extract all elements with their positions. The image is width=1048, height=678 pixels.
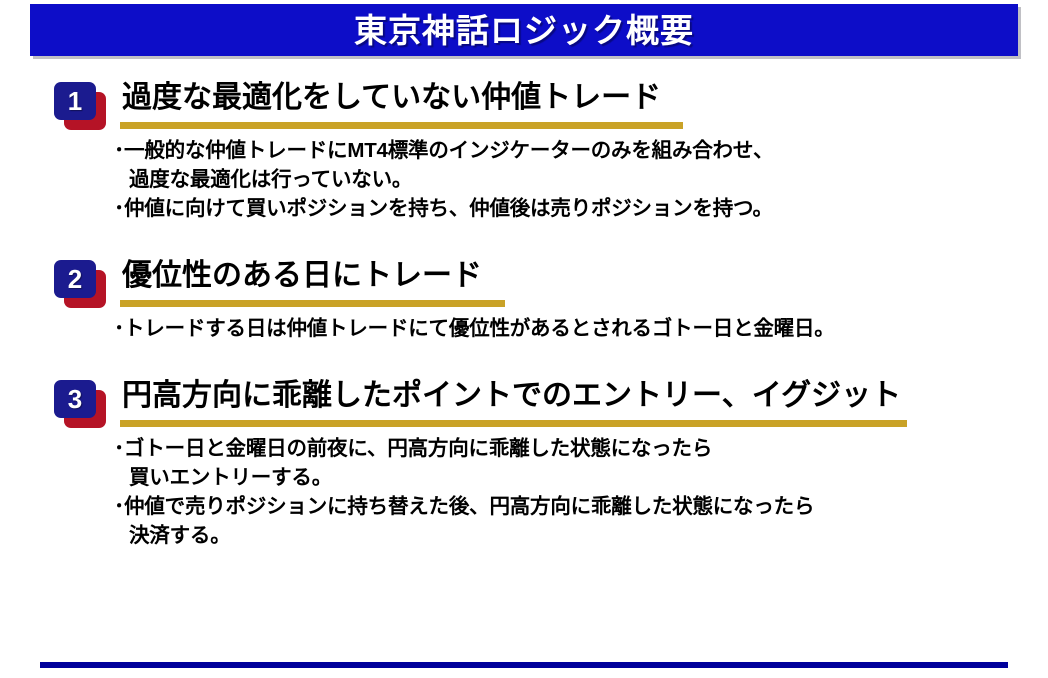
- section-2-header: 2 優位性のある日にトレード: [0, 258, 1048, 310]
- bullet-line: ･トレードする日は仲値トレードにて優位性があるとされるゴトー日と金曜日。: [114, 314, 1014, 343]
- bullet-line: 決済する。: [114, 521, 1014, 550]
- section-3-number-badge: 3: [52, 380, 108, 428]
- section-3-bullets: ･ゴトー日と金曜日の前夜に、円高方向に乖離した状態になったら 買いエントリーする…: [114, 434, 1014, 550]
- badge-main-shape: 2: [54, 260, 96, 298]
- section-2: 2 優位性のある日にトレード ･トレードする日は仲値トレードにて優位性があるとさ…: [0, 258, 1048, 310]
- badge-main-shape: 3: [54, 380, 96, 418]
- bullet-line: 買いエントリーする。: [114, 463, 1014, 492]
- page-title: 東京神話ロジック概要: [354, 14, 694, 47]
- bullet-line: ･仲値に向けて買いポジションを持ち、仲値後は売りポジションを持つ。: [114, 194, 1014, 223]
- section-3: 3 円高方向に乖離したポイントでのエントリー、イグジット ･ゴトー日と金曜日の前…: [0, 378, 1048, 430]
- section-2-number-badge: 2: [52, 260, 108, 308]
- section-2-underline: [120, 300, 505, 307]
- section-2-number: 2: [68, 266, 82, 292]
- bullet-line: ･一般的な仲値トレードにMT4標準のインジケーターのみを組み合わせ、: [114, 136, 1014, 165]
- section-3-header: 3 円高方向に乖離したポイントでのエントリー、イグジット: [0, 378, 1048, 430]
- section-3-heading: 円高方向に乖離したポイントでのエントリー、イグジット: [122, 378, 901, 413]
- bullet-line: ･仲値で売りポジションに持ち替えた後、円高方向に乖離した状態になったら: [114, 492, 1014, 521]
- slide-canvas: 東京神話ロジック概要 1 過度な最適化をしていない仲値トレード ･一般的な仲値ト…: [0, 0, 1048, 678]
- section-1-bullets: ･一般的な仲値トレードにMT4標準のインジケーターのみを組み合わせ、 過度な最適…: [114, 136, 1014, 223]
- section-2-heading: 優位性のある日にトレード: [122, 258, 482, 293]
- bullet-line: 過度な最適化は行っていない。: [114, 165, 1014, 194]
- slide-title-band: 東京神話ロジック概要: [30, 4, 1018, 56]
- bullet-line: ･ゴトー日と金曜日の前夜に、円高方向に乖離した状態になったら: [114, 434, 1014, 463]
- section-3-number: 3: [68, 386, 82, 412]
- section-1-number-badge: 1: [52, 82, 108, 130]
- section-3-underline: [120, 420, 907, 427]
- section-1-header: 1 過度な最適化をしていない仲値トレード: [0, 80, 1048, 132]
- section-1-heading: 過度な最適化をしていない仲値トレード: [122, 80, 661, 115]
- section-1-number: 1: [68, 88, 82, 114]
- section-1-underline: [120, 122, 683, 129]
- section-2-bullets: ･トレードする日は仲値トレードにて優位性があるとされるゴトー日と金曜日。: [114, 314, 1014, 343]
- section-1: 1 過度な最適化をしていない仲値トレード ･一般的な仲値トレードにMT4標準のイ…: [0, 80, 1048, 132]
- badge-main-shape: 1: [54, 82, 96, 120]
- footer-divider: [40, 662, 1008, 668]
